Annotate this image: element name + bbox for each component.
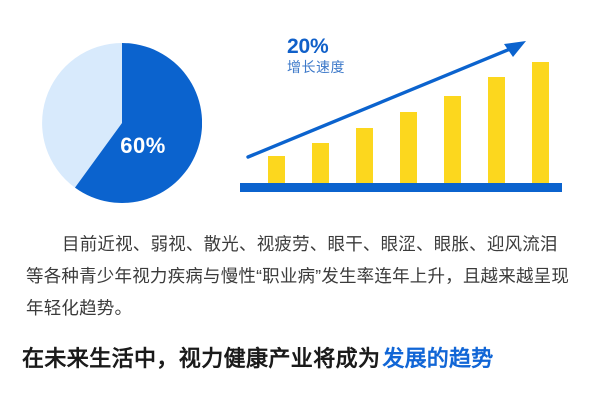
infographic-page: 60% 20% [0, 0, 600, 400]
bar-3 [356, 128, 373, 183]
headline: 在未来生活中，视力健康产业将成为发展的趋势 [22, 346, 493, 372]
pie-chart-svg [42, 43, 202, 203]
bar-1 [268, 156, 285, 183]
headline-accent-text: 发展的趋势 [380, 346, 493, 371]
paragraph-line-1: 目前近视、弱视、散光、视疲劳、眼干、眼涩、眼胀、 [62, 234, 487, 254]
growth-caption: 增长速度 [287, 60, 345, 75]
bar-5 [444, 96, 461, 183]
bar-4 [400, 112, 417, 183]
bar-chart-baseline [240, 183, 562, 192]
bar-chart-svg [236, 30, 566, 202]
headline-plain-text: 在未来生活中，视力健康产业将成为 [22, 346, 380, 371]
bar-7 [532, 62, 549, 183]
bar-6 [488, 77, 505, 183]
body-paragraph: 目前近视、弱视、散光、视疲劳、眼干、眼涩、眼胀、迎风流泪等各种青少年视力疾病与慢… [26, 228, 574, 324]
growth-annotation: 20% 增长速度 [287, 36, 345, 75]
charts-band: 60% 20% [0, 0, 600, 215]
pie-percentage-label: 60% [42, 135, 202, 157]
bar-chart [236, 30, 566, 202]
growth-percentage: 20% [287, 36, 345, 59]
bar-2 [312, 143, 329, 183]
pie-chart: 60% [42, 43, 202, 203]
